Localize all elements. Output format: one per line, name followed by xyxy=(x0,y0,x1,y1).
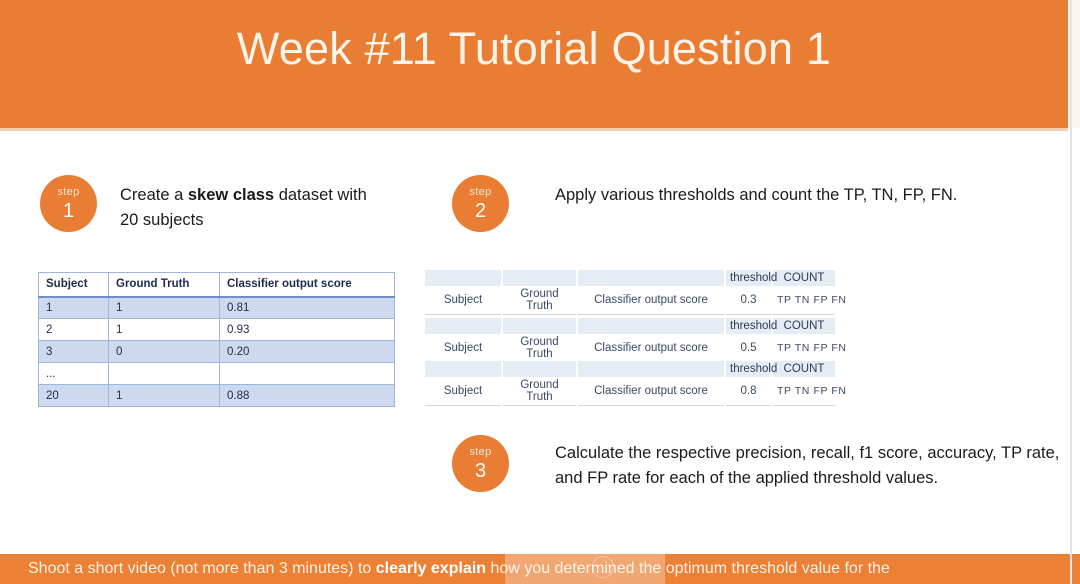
step-1-text: Create a skew class dataset with 20 subj… xyxy=(120,183,380,233)
col-subject: Subject xyxy=(425,377,502,406)
threshold-table-3-top-row: threshold COUNT xyxy=(425,361,836,377)
cell-ground-truth xyxy=(109,363,220,385)
step-1-word: step xyxy=(58,187,80,198)
step-3-text: Calculate the respective precision, reca… xyxy=(555,441,1065,491)
banner-text-before: Shoot a short video (not more than 3 min… xyxy=(28,560,376,577)
threshold-table-2-top-row: threshold COUNT xyxy=(425,318,836,334)
threshold-table-3-label-row: Subject Ground Truth Classifier output s… xyxy=(425,377,836,406)
cell-subject: 3 xyxy=(39,341,109,363)
threshold-table-1-top-row: threshold COUNT xyxy=(425,270,836,286)
threshold-label: threshold xyxy=(725,318,772,334)
blank-cell xyxy=(502,270,577,286)
col-score: Classifier output score xyxy=(577,334,725,363)
blank-cell xyxy=(577,270,725,286)
col-subject: Subject xyxy=(425,334,502,363)
header-underline xyxy=(0,128,1068,131)
col-score: Classifier output score xyxy=(577,377,725,406)
count-columns: TP TN FP FN xyxy=(772,286,836,315)
threshold-value: 0.3 xyxy=(725,286,772,315)
dataset-col-ground-truth: Ground Truth xyxy=(109,273,220,297)
blank-cell xyxy=(502,318,577,334)
cell-subject: 1 xyxy=(39,297,109,319)
step-3-badge: step 3 xyxy=(452,435,509,492)
table-row: 2 1 0.93 xyxy=(39,319,395,341)
step-3-word: step xyxy=(470,447,492,458)
step-1-block: step 1 Create a skew class dataset with … xyxy=(40,175,380,233)
banner-text-after: how you determined the optimum threshold… xyxy=(486,560,890,577)
banner-text-bold: clearly explain xyxy=(376,560,486,577)
step-1-badge: step 1 xyxy=(40,175,97,232)
col-score: Classifier output score xyxy=(577,286,725,315)
threshold-label: threshold xyxy=(725,361,772,377)
table-row: 1 1 0.81 xyxy=(39,297,395,319)
count-label: COUNT xyxy=(772,270,836,286)
table-row: 20 1 0.88 xyxy=(39,385,395,407)
cell-score: 0.93 xyxy=(220,319,395,341)
threshold-table-2: threshold COUNT Subject Ground Truth Cla… xyxy=(425,318,837,363)
dataset-col-subject: Subject xyxy=(39,273,109,297)
threshold-table-1: threshold COUNT Subject Ground Truth Cla… xyxy=(425,270,837,315)
cell-ground-truth: 1 xyxy=(109,297,220,319)
threshold-table-2-label-row: Subject Ground Truth Classifier output s… xyxy=(425,334,836,363)
page-title: Week #11 Tutorial Question 1 xyxy=(0,18,1068,80)
blank-cell xyxy=(425,361,502,377)
cell-ground-truth: 1 xyxy=(109,385,220,407)
table-row: 3 0 0.20 xyxy=(39,341,395,363)
step-2-badge: step 2 xyxy=(452,175,509,232)
cell-score: 0.88 xyxy=(220,385,395,407)
cell-subject: ... xyxy=(39,363,109,385)
slide: Week #11 Tutorial Question 1 step 1 Crea… xyxy=(0,0,1080,584)
blank-cell xyxy=(577,318,725,334)
step-1-number: 1 xyxy=(63,201,74,221)
step-3-number: 3 xyxy=(475,461,486,481)
dataset-table: Subject Ground Truth Classifier output s… xyxy=(38,272,395,407)
step-2-text: Apply various thresholds and count the T… xyxy=(555,183,1025,208)
count-columns: TP TN FP FN xyxy=(772,334,836,363)
table-row: ... xyxy=(39,363,395,385)
count-label: COUNT xyxy=(772,318,836,334)
step-2-block: step 2 Apply various thresholds and coun… xyxy=(452,175,1025,232)
col-ground-truth: Ground Truth xyxy=(502,334,577,363)
blank-cell xyxy=(502,361,577,377)
step-3-block: step 3 Calculate the respective precisio… xyxy=(452,435,1065,492)
cell-ground-truth: 0 xyxy=(109,341,220,363)
threshold-table-1-label-row: Subject Ground Truth Classifier output s… xyxy=(425,286,836,315)
threshold-label: threshold xyxy=(725,270,772,286)
col-ground-truth: Ground Truth xyxy=(502,286,577,315)
cell-ground-truth: 1 xyxy=(109,319,220,341)
dataset-col-score: Classifier output score xyxy=(220,273,395,297)
bottom-banner: Shoot a short video (not more than 3 min… xyxy=(0,554,1080,584)
cell-score: 0.20 xyxy=(220,341,395,363)
threshold-table-3: threshold COUNT Subject Ground Truth Cla… xyxy=(425,361,837,406)
blank-cell xyxy=(425,270,502,286)
cell-score: 0.81 xyxy=(220,297,395,319)
slide-right-edge xyxy=(1070,0,1072,584)
step-2-number: 2 xyxy=(475,201,486,221)
blank-cell xyxy=(577,361,725,377)
cell-subject: 2 xyxy=(39,319,109,341)
step-1-text-bold: skew class xyxy=(188,186,274,204)
count-label: COUNT xyxy=(772,361,836,377)
threshold-value: 0.8 xyxy=(725,377,772,406)
step-1-text-prefix: Create a xyxy=(120,186,188,204)
cell-subject: 20 xyxy=(39,385,109,407)
col-subject: Subject xyxy=(425,286,502,315)
step-2-word: step xyxy=(470,187,492,198)
count-columns: TP TN FP FN xyxy=(772,377,836,406)
cell-score xyxy=(220,363,395,385)
col-ground-truth: Ground Truth xyxy=(502,377,577,406)
threshold-value: 0.5 xyxy=(725,334,772,363)
dataset-table-header-row: Subject Ground Truth Classifier output s… xyxy=(39,273,395,297)
blank-cell xyxy=(425,318,502,334)
